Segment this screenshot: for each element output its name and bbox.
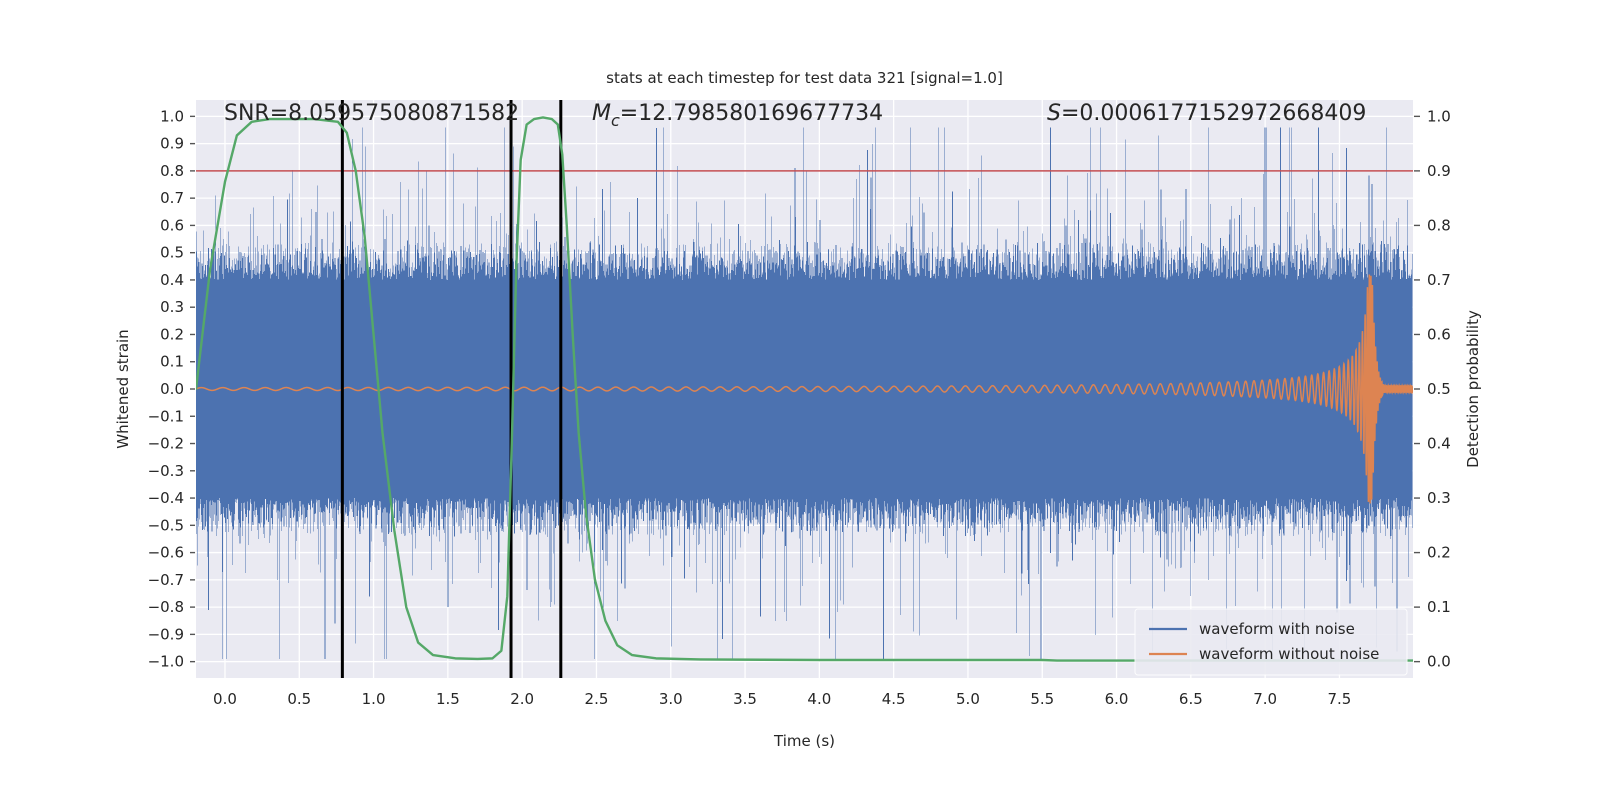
y-tick-label-left: 0.7 <box>160 189 184 207</box>
stat-annotations: SNR=8.059575080871582Mc=12.7985801696777… <box>224 101 1366 130</box>
figure-canvas: 0.00.51.01.52.02.53.03.54.04.55.05.56.06… <box>0 0 1600 800</box>
y-tick-label-left: 0.2 <box>160 325 184 343</box>
x-tick-label: 5.0 <box>956 690 980 708</box>
y-tick-label-left: 0.9 <box>160 135 184 153</box>
y-tick-label-right: 0.5 <box>1427 380 1451 398</box>
y-tick-label-left: 1.0 <box>160 107 184 125</box>
x-tick-label: 0.0 <box>213 690 237 708</box>
x-tick-label: 6.5 <box>1179 690 1203 708</box>
y-tick-label-left: 0.5 <box>160 244 184 262</box>
y-tick-label-right: 0.4 <box>1427 435 1451 453</box>
x-tick-label: 1.5 <box>436 690 460 708</box>
y-tick-label-right: 0.6 <box>1427 325 1451 343</box>
x-tick-label: 7.5 <box>1328 690 1352 708</box>
annotation-mc-symbol: M <box>592 101 611 126</box>
plot-title: stats at each timestep for test data 321… <box>606 69 1003 87</box>
y-tick-label-right: 0.1 <box>1427 598 1451 616</box>
annotation-mc-value: =12.798580169677734 <box>620 101 883 126</box>
y-tick-label-left: −0.8 <box>148 598 184 616</box>
x-tick-label: 5.5 <box>1030 690 1054 708</box>
x-tick-label: 3.5 <box>733 690 757 708</box>
annotation-s-value: =0.0006177152972668409 <box>1061 101 1366 126</box>
y-tick-label-right: 0.9 <box>1427 162 1451 180</box>
y-tick-label-left: −1.0 <box>148 653 184 671</box>
y-tick-label-left: 0.8 <box>160 162 184 180</box>
x-tick-label: 2.0 <box>510 690 534 708</box>
legend-background <box>1135 609 1407 675</box>
x-tick-label: 0.5 <box>287 690 311 708</box>
annotation-chirp-mass: Mc=12.798580169677734 <box>592 101 883 130</box>
x-tick-label: 3.0 <box>659 690 683 708</box>
x-tick-label: 4.0 <box>807 690 831 708</box>
y-tick-label-left: 0.1 <box>160 353 184 371</box>
y-tick-label-left: 0.3 <box>160 298 184 316</box>
y-axis-label-right: Detection probability <box>1464 310 1482 468</box>
legend-label: waveform without noise <box>1199 645 1379 663</box>
y-tick-label-left: −0.4 <box>148 489 184 507</box>
y-tick-label-left: 0.0 <box>160 380 184 398</box>
x-tick-label: 2.5 <box>585 690 609 708</box>
y-tick-label-left: −0.1 <box>148 407 184 425</box>
x-tick-label: 1.0 <box>362 690 386 708</box>
y-tick-label-left: −0.3 <box>148 462 184 480</box>
y-axis-label-left: Whitened strain <box>114 329 132 448</box>
y-tick-label-left: −0.7 <box>148 571 184 589</box>
y-tick-label-right: 1.0 <box>1427 107 1451 125</box>
y-tick-label-right: 0.7 <box>1427 271 1451 289</box>
legend: waveform with noisewaveform without nois… <box>1135 609 1407 675</box>
annotation-score: S=0.0006177152972668409 <box>1047 101 1366 126</box>
annotation-mc-subscript: c <box>611 111 620 130</box>
annotation-snr: SNR=8.059575080871582 <box>224 101 519 126</box>
y-tick-label-left: −0.2 <box>148 435 184 453</box>
y-tick-label-right: 0.8 <box>1427 216 1451 234</box>
y-tick-label-right: 0.3 <box>1427 489 1451 507</box>
annotation-s-symbol: S <box>1047 101 1061 126</box>
y-tick-label-left: −0.9 <box>148 625 184 643</box>
y-tick-label-right: 0.2 <box>1427 544 1451 562</box>
y-tick-label-left: −0.6 <box>148 544 184 562</box>
legend-label: waveform with noise <box>1199 620 1355 638</box>
x-axis-label: Time (s) <box>773 732 835 750</box>
x-tick-label: 4.5 <box>882 690 906 708</box>
y-tick-label-left: −0.5 <box>148 516 184 534</box>
plot-svg: 0.00.51.01.52.02.53.03.54.04.55.05.56.06… <box>0 0 1600 800</box>
y-tick-label-right: 0.0 <box>1427 653 1451 671</box>
y-tick-label-left: 0.4 <box>160 271 184 289</box>
x-tick-label: 7.0 <box>1253 690 1277 708</box>
x-tick-label: 6.0 <box>1105 690 1129 708</box>
y-tick-label-left: 0.6 <box>160 216 184 234</box>
